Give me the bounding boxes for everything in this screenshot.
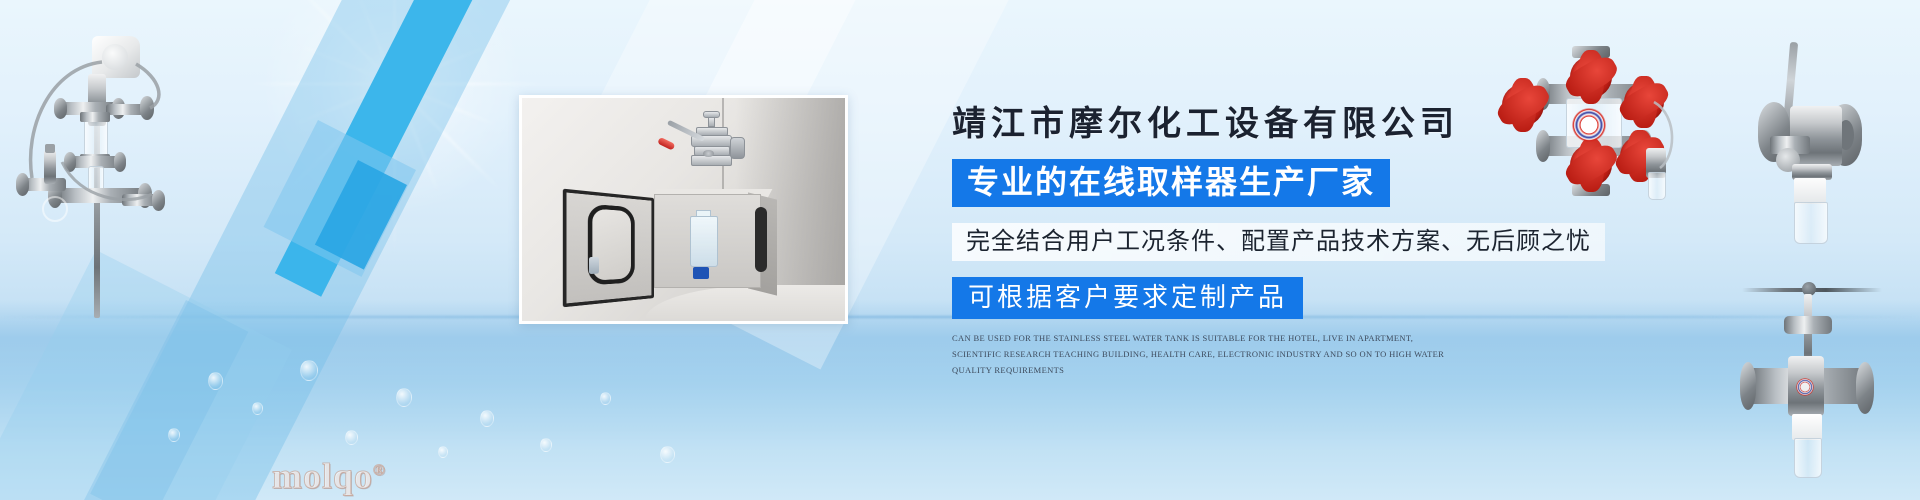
subline-text: 完全结合用户工况条件、配置产品技术方案、无后顾之忧 (952, 223, 1605, 261)
water-droplet (396, 388, 412, 407)
water-droplet (345, 430, 358, 445)
lens-flare-dot (363, 232, 373, 242)
product-inline-sampling-valve (1750, 282, 1910, 482)
diagonal-ribbon-pale (264, 120, 416, 277)
headline-badge: 专业的在线取样器生产厂家 (952, 159, 1390, 207)
cta-badge: 可根据客户要求定制产品 (952, 277, 1303, 319)
lens-flare-dot (357, 140, 375, 158)
water-droplet (208, 372, 223, 390)
lens-flare-dot (358, 198, 372, 212)
diagonal-ribbon-blue (275, 0, 517, 297)
water-droplet (600, 392, 611, 405)
water-droplet (300, 360, 318, 381)
product-photo-enclosure-sampler (519, 95, 848, 324)
watermark-logo: molqo® (272, 455, 386, 497)
english-description: CAN BE USED FOR THE STAINLESS STEEL WATE… (952, 331, 1457, 378)
tubing-icon (10, 28, 180, 318)
water-droplet (660, 446, 675, 463)
promotional-banner: 靖江市摩尔化工设备有限公司 专业的在线取样器生产厂家 完全结合用户工况条件、配置… (0, 0, 1920, 500)
watermark-text: molqo (272, 456, 373, 496)
company-name: 靖江市摩尔化工设备有限公司 (952, 96, 1712, 145)
diagonal-ribbon-pale (36, 300, 248, 500)
water-droplet (168, 428, 180, 442)
copy-block: 靖江市摩尔化工设备有限公司 专业的在线取样器生产厂家 完全结合用户工况条件、配置… (952, 96, 1712, 379)
water-droplet (540, 438, 552, 452)
water-droplet (480, 410, 494, 427)
product-pole-mounted-sampler (10, 28, 180, 318)
product-flanged-lever-valve (1754, 42, 1904, 257)
water-droplet (252, 402, 263, 415)
sun-flare-icon (243, 0, 543, 234)
water-droplet (438, 446, 448, 458)
diagonal-ribbon-blue (315, 160, 407, 270)
registered-mark-icon: ® (373, 462, 386, 479)
